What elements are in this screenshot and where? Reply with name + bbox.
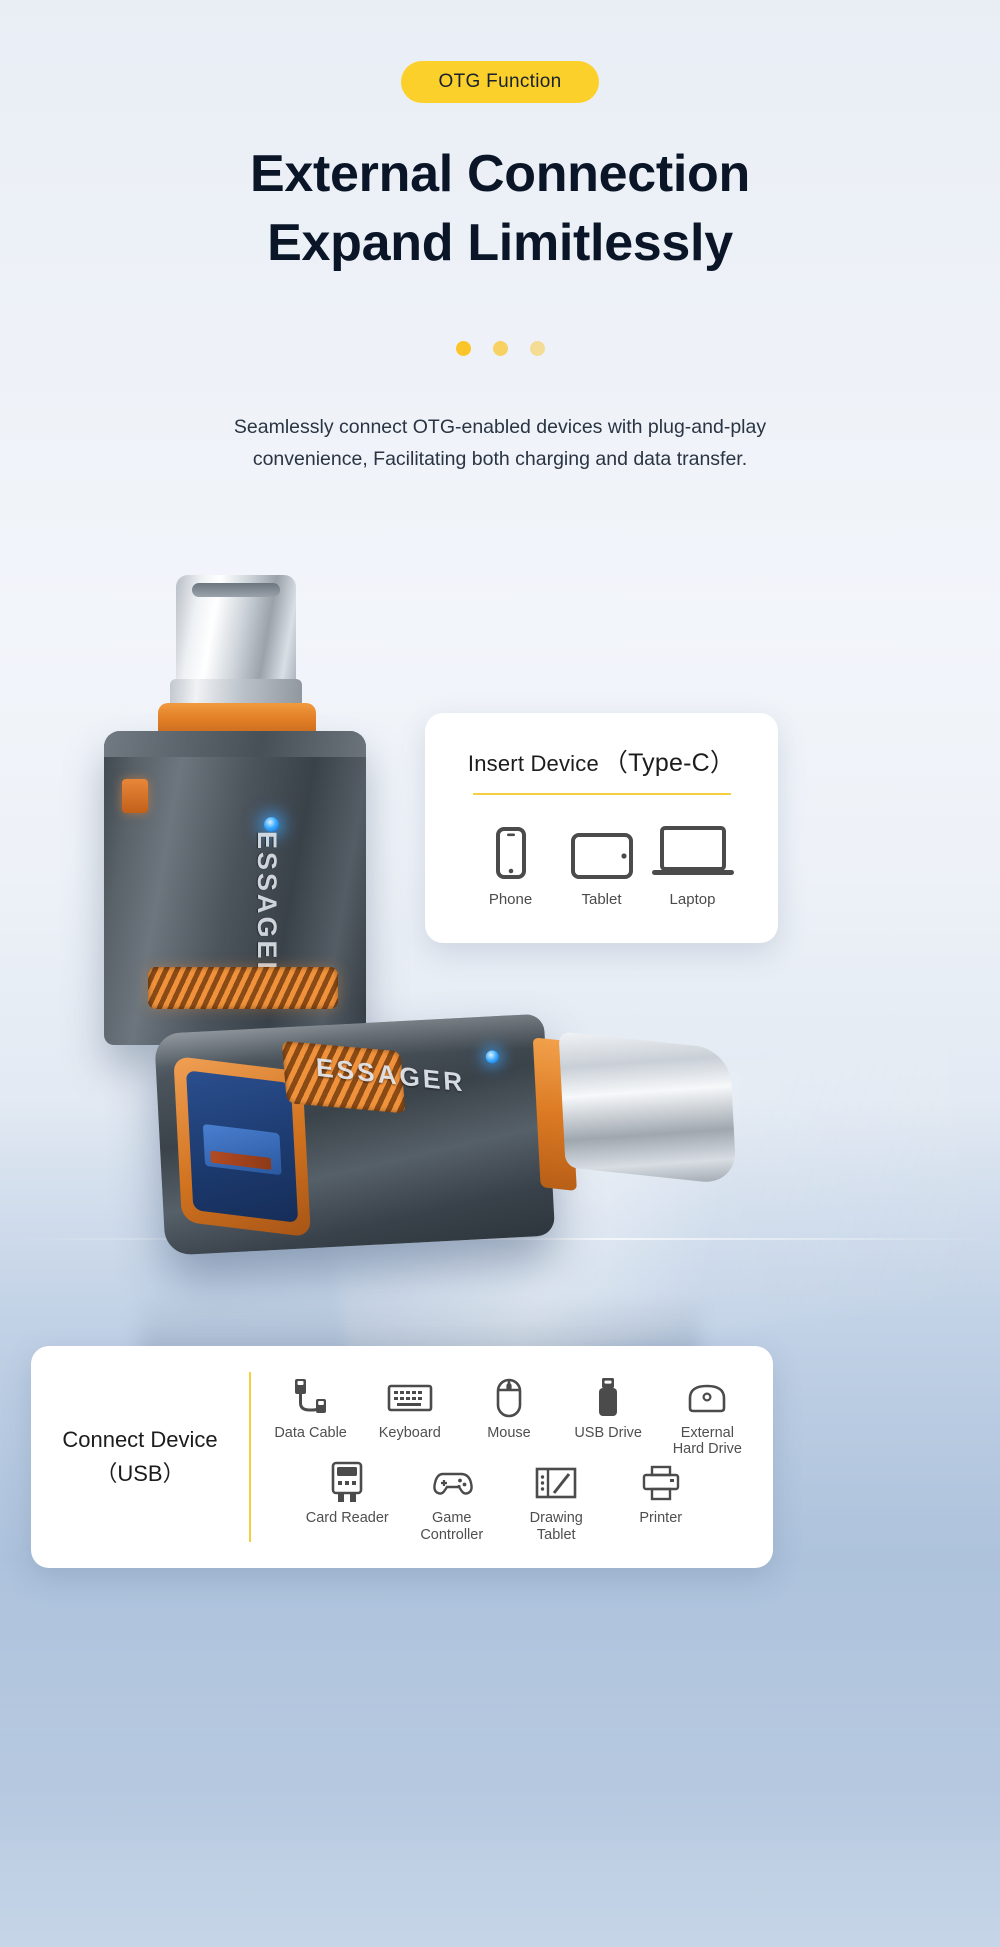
insert-item-tablet: Tablet bbox=[556, 821, 647, 908]
connect-item-data-cable: Data Cable bbox=[262, 1375, 360, 1442]
otg-adapter-lying: ESSAGER bbox=[133, 985, 717, 1294]
connect-device-icon-grid: Data Cable bbox=[251, 1346, 773, 1568]
connect-device-title-text: Connect Device bbox=[62, 1423, 217, 1457]
connect-item-drawing-tablet: Drawing Tablet bbox=[507, 1460, 605, 1543]
connect-icon-row-1: Data Cable bbox=[261, 1375, 757, 1458]
insert-device-title: Insert Device（Type-C） bbox=[447, 743, 756, 779]
dot-1 bbox=[456, 341, 471, 356]
external-hard-drive-icon bbox=[658, 1375, 756, 1421]
badge-row: OTG Function bbox=[0, 61, 1000, 103]
led-indicator-upright bbox=[264, 817, 279, 832]
side-slot bbox=[122, 779, 148, 813]
dot-2 bbox=[493, 341, 508, 356]
product-feature-page: OTG Function External Connection Expand … bbox=[0, 0, 1000, 1947]
printer-icon bbox=[612, 1460, 710, 1506]
connect-item-card-reader-label: Card Reader bbox=[298, 1510, 396, 1527]
connect-item-external-hard-drive: External Hard Drive bbox=[658, 1375, 756, 1458]
game-controller-icon bbox=[403, 1460, 501, 1506]
connect-item-usb-drive-label: USB Drive bbox=[559, 1425, 657, 1442]
connect-item-printer: Printer bbox=[612, 1460, 710, 1527]
connect-item-drawing-tablet-label: Drawing Tablet bbox=[507, 1510, 605, 1543]
usb-a-tongue bbox=[203, 1124, 282, 1175]
connect-item-printer-label: Printer bbox=[612, 1510, 710, 1527]
connect-item-card-reader: Card Reader bbox=[298, 1460, 396, 1527]
insert-device-title-text: Insert Device bbox=[468, 751, 599, 776]
page-title: External Connection Expand Limitlessly bbox=[0, 140, 1000, 277]
keyboard-icon bbox=[361, 1375, 459, 1421]
dot-3 bbox=[530, 341, 545, 356]
otg-function-badge: OTG Function bbox=[401, 61, 600, 103]
tablet-icon bbox=[556, 821, 647, 879]
connect-device-title: Connect Device （USB） bbox=[31, 1346, 249, 1568]
data-cable-icon bbox=[262, 1375, 360, 1421]
subtitle-line-2: convenience, Facilitating both charging … bbox=[150, 444, 850, 476]
headline-line-2: Expand Limitlessly bbox=[0, 209, 1000, 278]
connect-item-mouse: Mouse bbox=[460, 1375, 558, 1442]
drawing-tablet-icon bbox=[507, 1460, 605, 1506]
connect-item-mouse-label: Mouse bbox=[460, 1425, 558, 1442]
connect-item-keyboard-label: Keyboard bbox=[361, 1425, 459, 1442]
insert-device-icon-row: Phone Tablet Laptop bbox=[447, 795, 756, 908]
connect-icon-row-2: Card Reader Game bbox=[261, 1458, 757, 1543]
connect-item-keyboard: Keyboard bbox=[361, 1375, 459, 1442]
subtitle-line-1: Seamlessly connect OTG-enabled devices w… bbox=[150, 412, 850, 444]
connect-item-game-controller: Game Controller bbox=[403, 1460, 501, 1543]
type-c-plug-lying bbox=[558, 1031, 736, 1185]
type-c-plug-upright bbox=[176, 575, 296, 695]
connect-item-usb-drive: USB Drive bbox=[559, 1375, 657, 1442]
headline-line-1: External Connection bbox=[250, 145, 750, 203]
insert-item-laptop-label: Laptop bbox=[647, 891, 738, 908]
insert-device-title-paren: （Type-C） bbox=[603, 749, 735, 777]
insert-item-phone-label: Phone bbox=[465, 891, 556, 908]
connect-item-game-controller-label: Game Controller bbox=[403, 1510, 501, 1543]
phone-icon bbox=[465, 821, 556, 879]
led-indicator-lying bbox=[485, 1050, 499, 1064]
adapter-body-upright: ESSAGER bbox=[104, 731, 366, 1045]
connect-item-data-cable-label: Data Cable bbox=[262, 1425, 360, 1442]
insert-item-phone: Phone bbox=[465, 821, 556, 908]
page-subtitle: Seamlessly connect OTG-enabled devices w… bbox=[150, 412, 850, 475]
insert-device-card: Insert Device（Type-C） Phone bbox=[425, 713, 778, 943]
decorative-dots bbox=[0, 341, 1000, 356]
connect-device-title-paren: （USB） bbox=[95, 1457, 184, 1491]
vent-grill-upright bbox=[148, 967, 338, 1009]
adapter-body-lying: ESSAGER bbox=[154, 1014, 555, 1256]
connect-device-card: Connect Device （USB） bbox=[31, 1346, 773, 1568]
usb-a-port-inner bbox=[186, 1070, 298, 1223]
insert-item-tablet-label: Tablet bbox=[556, 891, 647, 908]
otg-adapter-upright: ESSAGER bbox=[98, 575, 378, 1045]
laptop-icon bbox=[647, 821, 738, 879]
connect-item-external-hard-drive-label: External Hard Drive bbox=[658, 1425, 756, 1458]
adapter-top-face bbox=[104, 731, 366, 757]
card-reader-icon bbox=[298, 1460, 396, 1506]
insert-item-laptop: Laptop bbox=[647, 821, 738, 908]
usb-drive-icon bbox=[559, 1375, 657, 1421]
mouse-icon bbox=[460, 1375, 558, 1421]
